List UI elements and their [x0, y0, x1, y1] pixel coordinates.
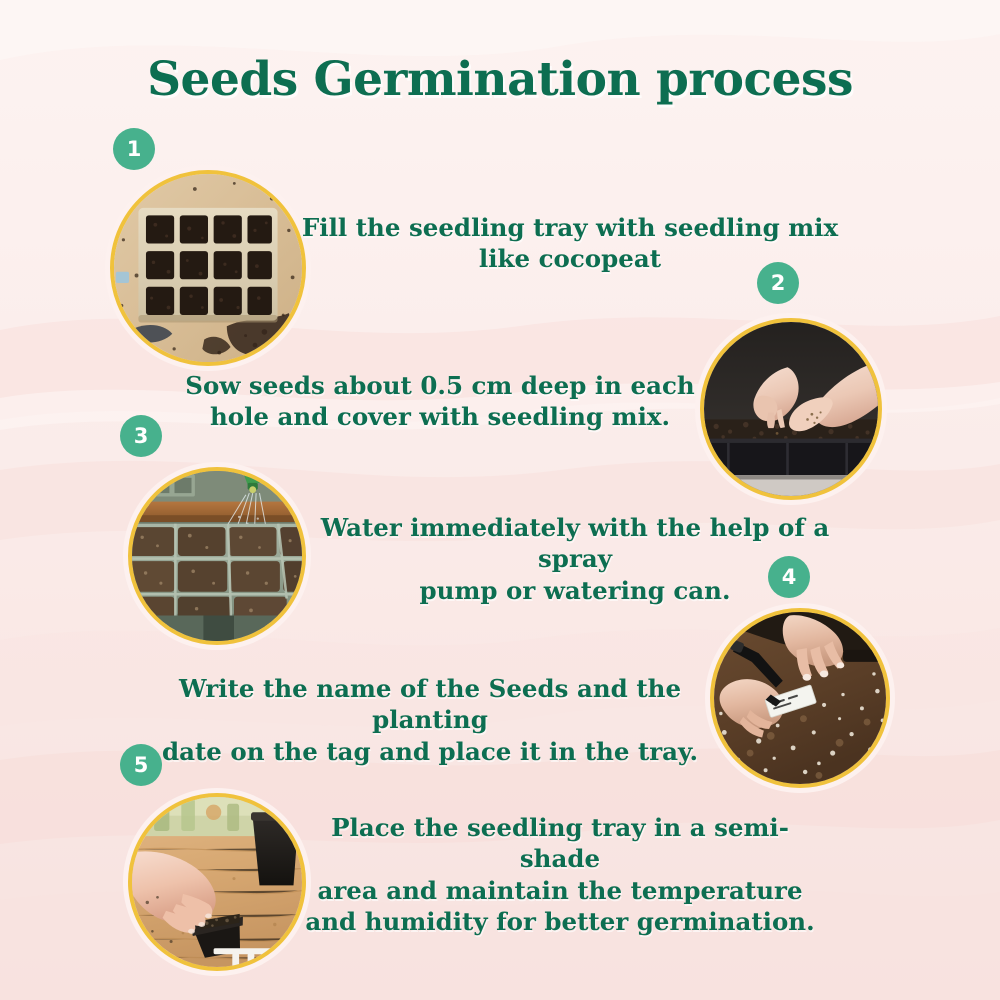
photo-hands-sowing-seeds	[700, 318, 882, 500]
photo-placing-tray-on-table	[128, 793, 306, 971]
step-text-4: Write the name of the Seeds and the plan…	[150, 673, 710, 767]
step-badge-5: 5	[120, 744, 162, 786]
step-text-5: Place the seedling tray in a semi-shade …	[300, 812, 820, 937]
step-number-5: 5	[134, 755, 149, 776]
step-number-3: 3	[134, 426, 149, 447]
photo-writing-plant-tag	[710, 608, 890, 788]
step-badge-4: 4	[768, 556, 810, 598]
step-badge-3: 3	[120, 415, 162, 457]
page-title: Seeds Germination process	[0, 52, 1000, 107]
step-text-1: Fill the seedling tray with seedling mix…	[300, 212, 840, 275]
step-text-2: Sow seeds about 0.5 cm deep in each hole…	[180, 370, 700, 433]
photo-seedling-tray-with-cocopeat	[110, 170, 306, 366]
photo-watering-tray-with-spray	[128, 467, 306, 645]
step-badge-2: 2	[757, 262, 799, 304]
step-number-2: 2	[771, 273, 786, 294]
step-number-4: 4	[782, 567, 797, 588]
step-number-1: 1	[127, 139, 142, 160]
step-badge-1: 1	[113, 128, 155, 170]
infographic-canvas: Seeds Germination process 1	[0, 0, 1000, 1000]
